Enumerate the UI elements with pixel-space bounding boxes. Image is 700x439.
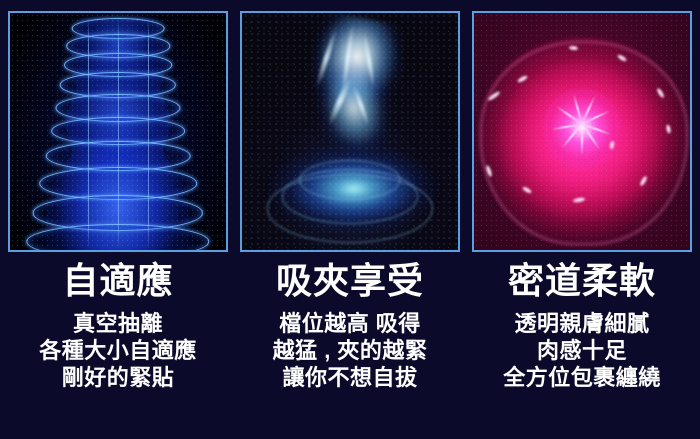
description-line: 肉感十足 <box>472 337 692 364</box>
panel2-noise-overlay <box>242 13 458 250</box>
description-line: 各種大小自適應 <box>8 337 228 364</box>
description-line: 讓你不想自拔 <box>240 364 460 391</box>
description-line: 檔位越高 吸得 <box>240 310 460 337</box>
description-line: 透明親膚細膩 <box>472 310 692 337</box>
media-frame-suction <box>240 11 460 252</box>
panel1-noise-overlay <box>10 13 226 250</box>
caption-suction: 吸夾享受 檔位越高 吸得 越猛 , 夾的越緊 讓你不想自拔 <box>240 252 460 391</box>
blue-wireframe-sleeve-image <box>10 13 226 250</box>
headline-soft-channel: 密道柔軟 <box>472 263 692 299</box>
caption-soft-channel: 密道柔軟 透明親膚細膩 肉感十足 全方位包裹纏繞 <box>472 252 692 391</box>
headline-adaptive: 自適應 <box>8 263 228 299</box>
description-line: 真空抽離 <box>8 310 228 337</box>
feature-panel-suction: 吸夾享受 檔位越高 吸得 越猛 , 夾的越緊 讓你不想自拔 <box>240 11 460 439</box>
description-suction: 檔位越高 吸得 越猛 , 夾的越緊 讓你不想自拔 <box>240 310 460 391</box>
description-line: 越猛 , 夾的越緊 <box>240 337 460 364</box>
magenta-radial-channel-image <box>474 13 690 250</box>
feature-poster: 自適應 真空抽離 各種大小自適應 剛好的緊貼 <box>0 0 700 439</box>
description-line: 全方位包裹纏繞 <box>472 364 692 391</box>
feature-panel-soft-channel: 密道柔軟 透明親膚細膩 肉感十足 全方位包裹纏繞 <box>472 11 692 439</box>
description-line: 剛好的緊貼 <box>8 364 228 391</box>
media-frame-adaptive <box>8 11 228 252</box>
media-frame-soft-channel <box>472 11 692 252</box>
description-adaptive: 真空抽離 各種大小自適應 剛好的緊貼 <box>8 310 228 391</box>
feature-panel-adaptive: 自適應 真空抽離 各種大小自適應 剛好的緊貼 <box>8 11 228 439</box>
panel3-noise-overlay <box>474 13 690 250</box>
headline-suction: 吸夾享受 <box>240 263 460 299</box>
cyan-plasma-swirl-image <box>242 13 458 250</box>
description-soft-channel: 透明親膚細膩 肉感十足 全方位包裹纏繞 <box>472 310 692 391</box>
caption-adaptive: 自適應 真空抽離 各種大小自適應 剛好的緊貼 <box>8 252 228 391</box>
